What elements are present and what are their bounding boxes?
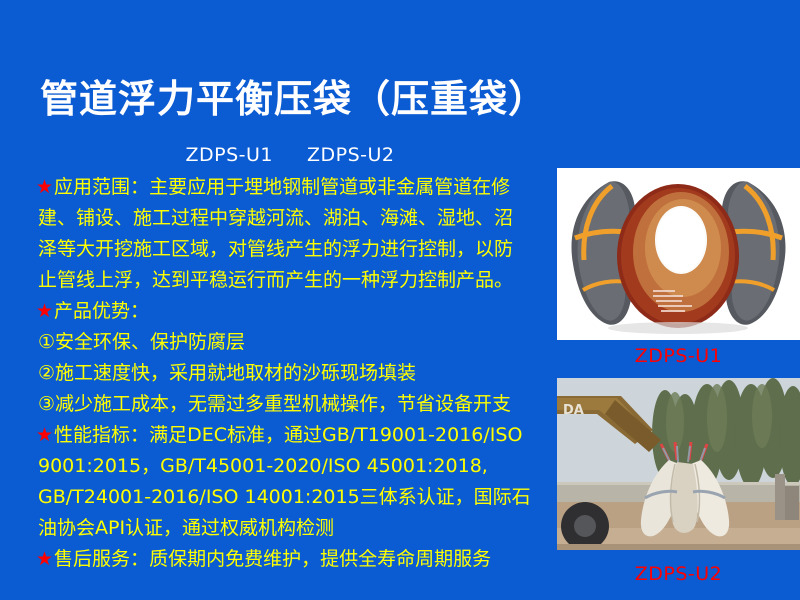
bullet-advantages-heading: 产品优势： — [54, 300, 149, 322]
subtitle-sku-2: ZDPS-U2 — [307, 142, 395, 168]
star-bullet-icon: ★ — [36, 300, 53, 322]
bullet-performance-heading: 性能指标： — [54, 424, 149, 446]
bullet-service-heading: 售后服务： — [54, 548, 149, 570]
bullet-performance-line-2: 9001:2015，GB/T45001-2020/ISO 45001:2018, — [36, 451, 541, 482]
star-bullet-icon: ★ — [36, 424, 53, 446]
photo-caption-zdps-u2: ZDPS-U2 — [557, 562, 800, 586]
svg-text:DA: DA — [563, 403, 584, 418]
bullet-advantages-item-3: ③减少施工成本，无需过多重型机械操作，节省设备开支 — [36, 389, 541, 420]
bullet-application-line-1: ★应用范围：主要应用于埋地钢制管道或非金属管道在修 — [36, 172, 541, 203]
bullet-application-line-2: 建、铺设、施工过程中穿越河流、湖泊、海滩、湿地、沼 — [36, 203, 541, 234]
subtitle-sku-1: ZDPS-U1 — [185, 142, 273, 168]
bullet-performance-line-3: GB/T24001-2016/ISO 14001:2015三体系认证，国际石 — [36, 482, 541, 513]
bullet-service-text: 质保期内免费维护，提供全寿命周期服务 — [149, 548, 491, 570]
slide-root: 管道浮力平衡压袋（压重袋） ZDPS-U1ZDPS-U2 ★应用范围：主要应用于… — [0, 0, 800, 600]
bullet-advantages-item-2: ②施工速度快，采用就地取材的沙砾现场填装 — [36, 358, 541, 389]
photo-caption-zdps-u1: ZDPS-U1 — [557, 344, 800, 368]
pipeline-saddle-bag-illustration — [557, 168, 800, 340]
product-photo-pipeline-saddle-bag — [557, 168, 800, 340]
bullet-service-line: ★售后服务：质保期内免费维护，提供全寿命周期服务 — [36, 544, 541, 575]
body-text-column: ★应用范围：主要应用于埋地钢制管道或非金属管道在修 建、铺设、施工过程中穿越河流… — [36, 172, 541, 575]
bullet-performance-text-1: 满足DEC标准，通过GB/T19001-2016/ISO — [149, 424, 522, 446]
bullet-application-line-3: 泽等大开挖施工区域，对管线产生的浮力进行控制，以防 — [36, 234, 541, 265]
bullet-advantages-heading-line: ★产品优势： — [36, 296, 541, 327]
page-title: 管道浮力平衡压袋（压重袋） — [40, 76, 540, 122]
product-photo-excavator-lifting-bag: DA — [557, 378, 800, 550]
bullet-performance-line-1: ★性能指标：满足DEC标准，通过GB/T19001-2016/ISO — [36, 420, 541, 451]
bullet-performance-line-4: 油协会API认证，通过权威机构检测 — [36, 513, 541, 544]
bullet-advantages-item-1: ①安全环保、保护防腐层 — [36, 327, 541, 358]
subtitle-sku-row: ZDPS-U1ZDPS-U2 — [40, 142, 540, 168]
star-bullet-icon: ★ — [36, 548, 53, 570]
bullet-application-text-1: 主要应用于埋地钢制管道或非金属管道在修 — [149, 176, 510, 198]
bullet-application-line-4: 止管线上浮，达到平稳运行而产生的一种浮力控制产品。 — [36, 265, 541, 296]
bullet-application-heading: 应用范围： — [54, 176, 149, 198]
star-bullet-icon: ★ — [36, 176, 53, 198]
excavator-lifting-bag-illustration: DA — [557, 378, 800, 550]
